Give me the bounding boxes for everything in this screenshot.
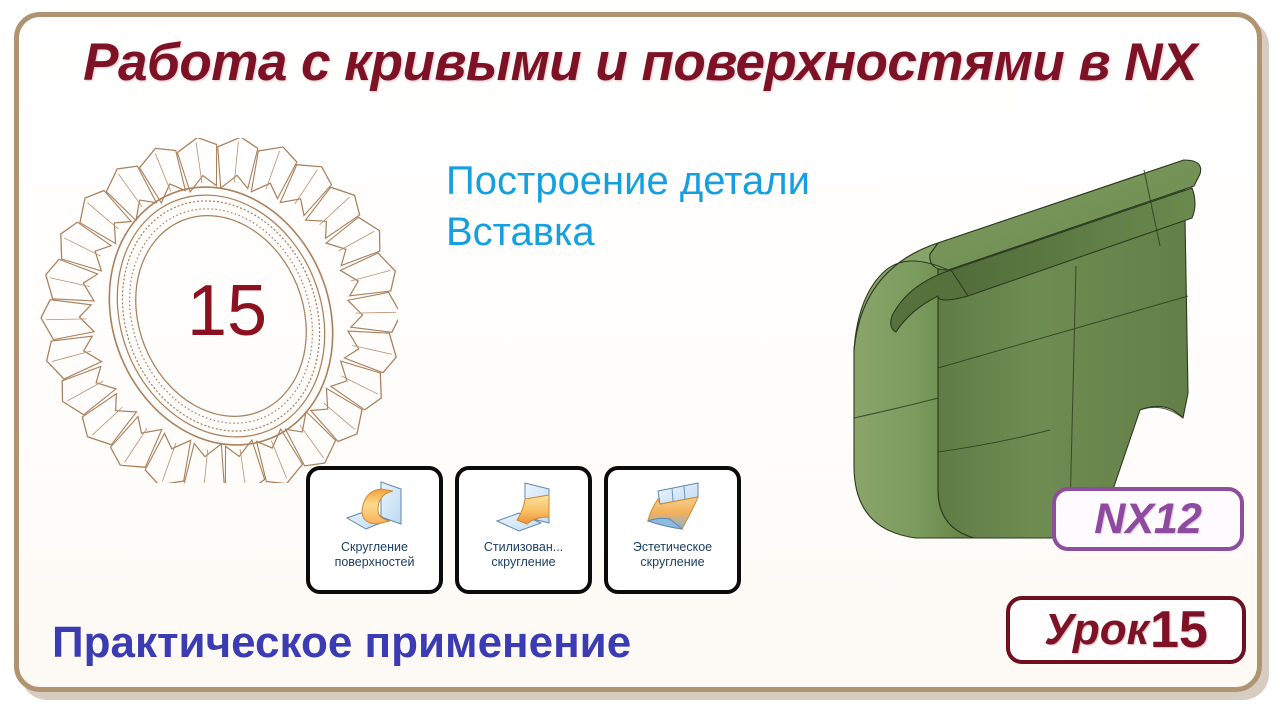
tool-label-line-1: Скругление <box>341 540 408 554</box>
tool-button-styled-blend[interactable]: Стилизован... скругление <box>455 466 592 594</box>
aesthetic-fillet-icon <box>636 477 710 537</box>
lesson-badge-number: 15 <box>1150 600 1208 660</box>
tool-button-aesthetic-fillet[interactable]: Эстетическое скругление <box>604 466 741 594</box>
tool-label-line-1: Стилизован... <box>484 540 563 554</box>
subheading-line-2: Вставка <box>446 207 810 258</box>
tool-button-label: Скругление поверхностей <box>309 540 441 570</box>
lesson-badge-word: Урок <box>1044 605 1149 655</box>
tool-label-line-2: скругление <box>640 555 704 569</box>
impeller-wireframe-illustration: 15 <box>38 138 398 483</box>
lesson-number-overlay: 15 <box>38 138 398 483</box>
subheading-block: Построение детали Вставка <box>446 156 810 258</box>
version-badge: NX12 <box>1052 487 1244 551</box>
tool-button-row: Скругление поверхностей <box>306 466 741 594</box>
tool-button-surface-fillet[interactable]: Скругление поверхностей <box>306 466 443 594</box>
slide-canvas: Работа с кривыми и поверхностями в NX <box>0 0 1280 720</box>
surface-fillet-icon <box>338 477 412 537</box>
styled-blend-icon <box>487 477 561 537</box>
tool-label-line-2: скругление <box>491 555 555 569</box>
tool-label-line-2: поверхностей <box>335 555 415 569</box>
tool-button-label: Эстетическое скругление <box>607 540 739 570</box>
tool-label-line-1: Эстетическое <box>633 540 712 554</box>
lesson-badge: Урок 15 <box>1006 596 1246 664</box>
bottom-heading: Практическое применение <box>52 618 631 668</box>
subheading-line-1: Построение детали <box>446 156 810 207</box>
page-title: Работа с кривыми и поверхностями в NX <box>0 32 1280 93</box>
tool-button-label: Стилизован... скругление <box>458 540 590 570</box>
